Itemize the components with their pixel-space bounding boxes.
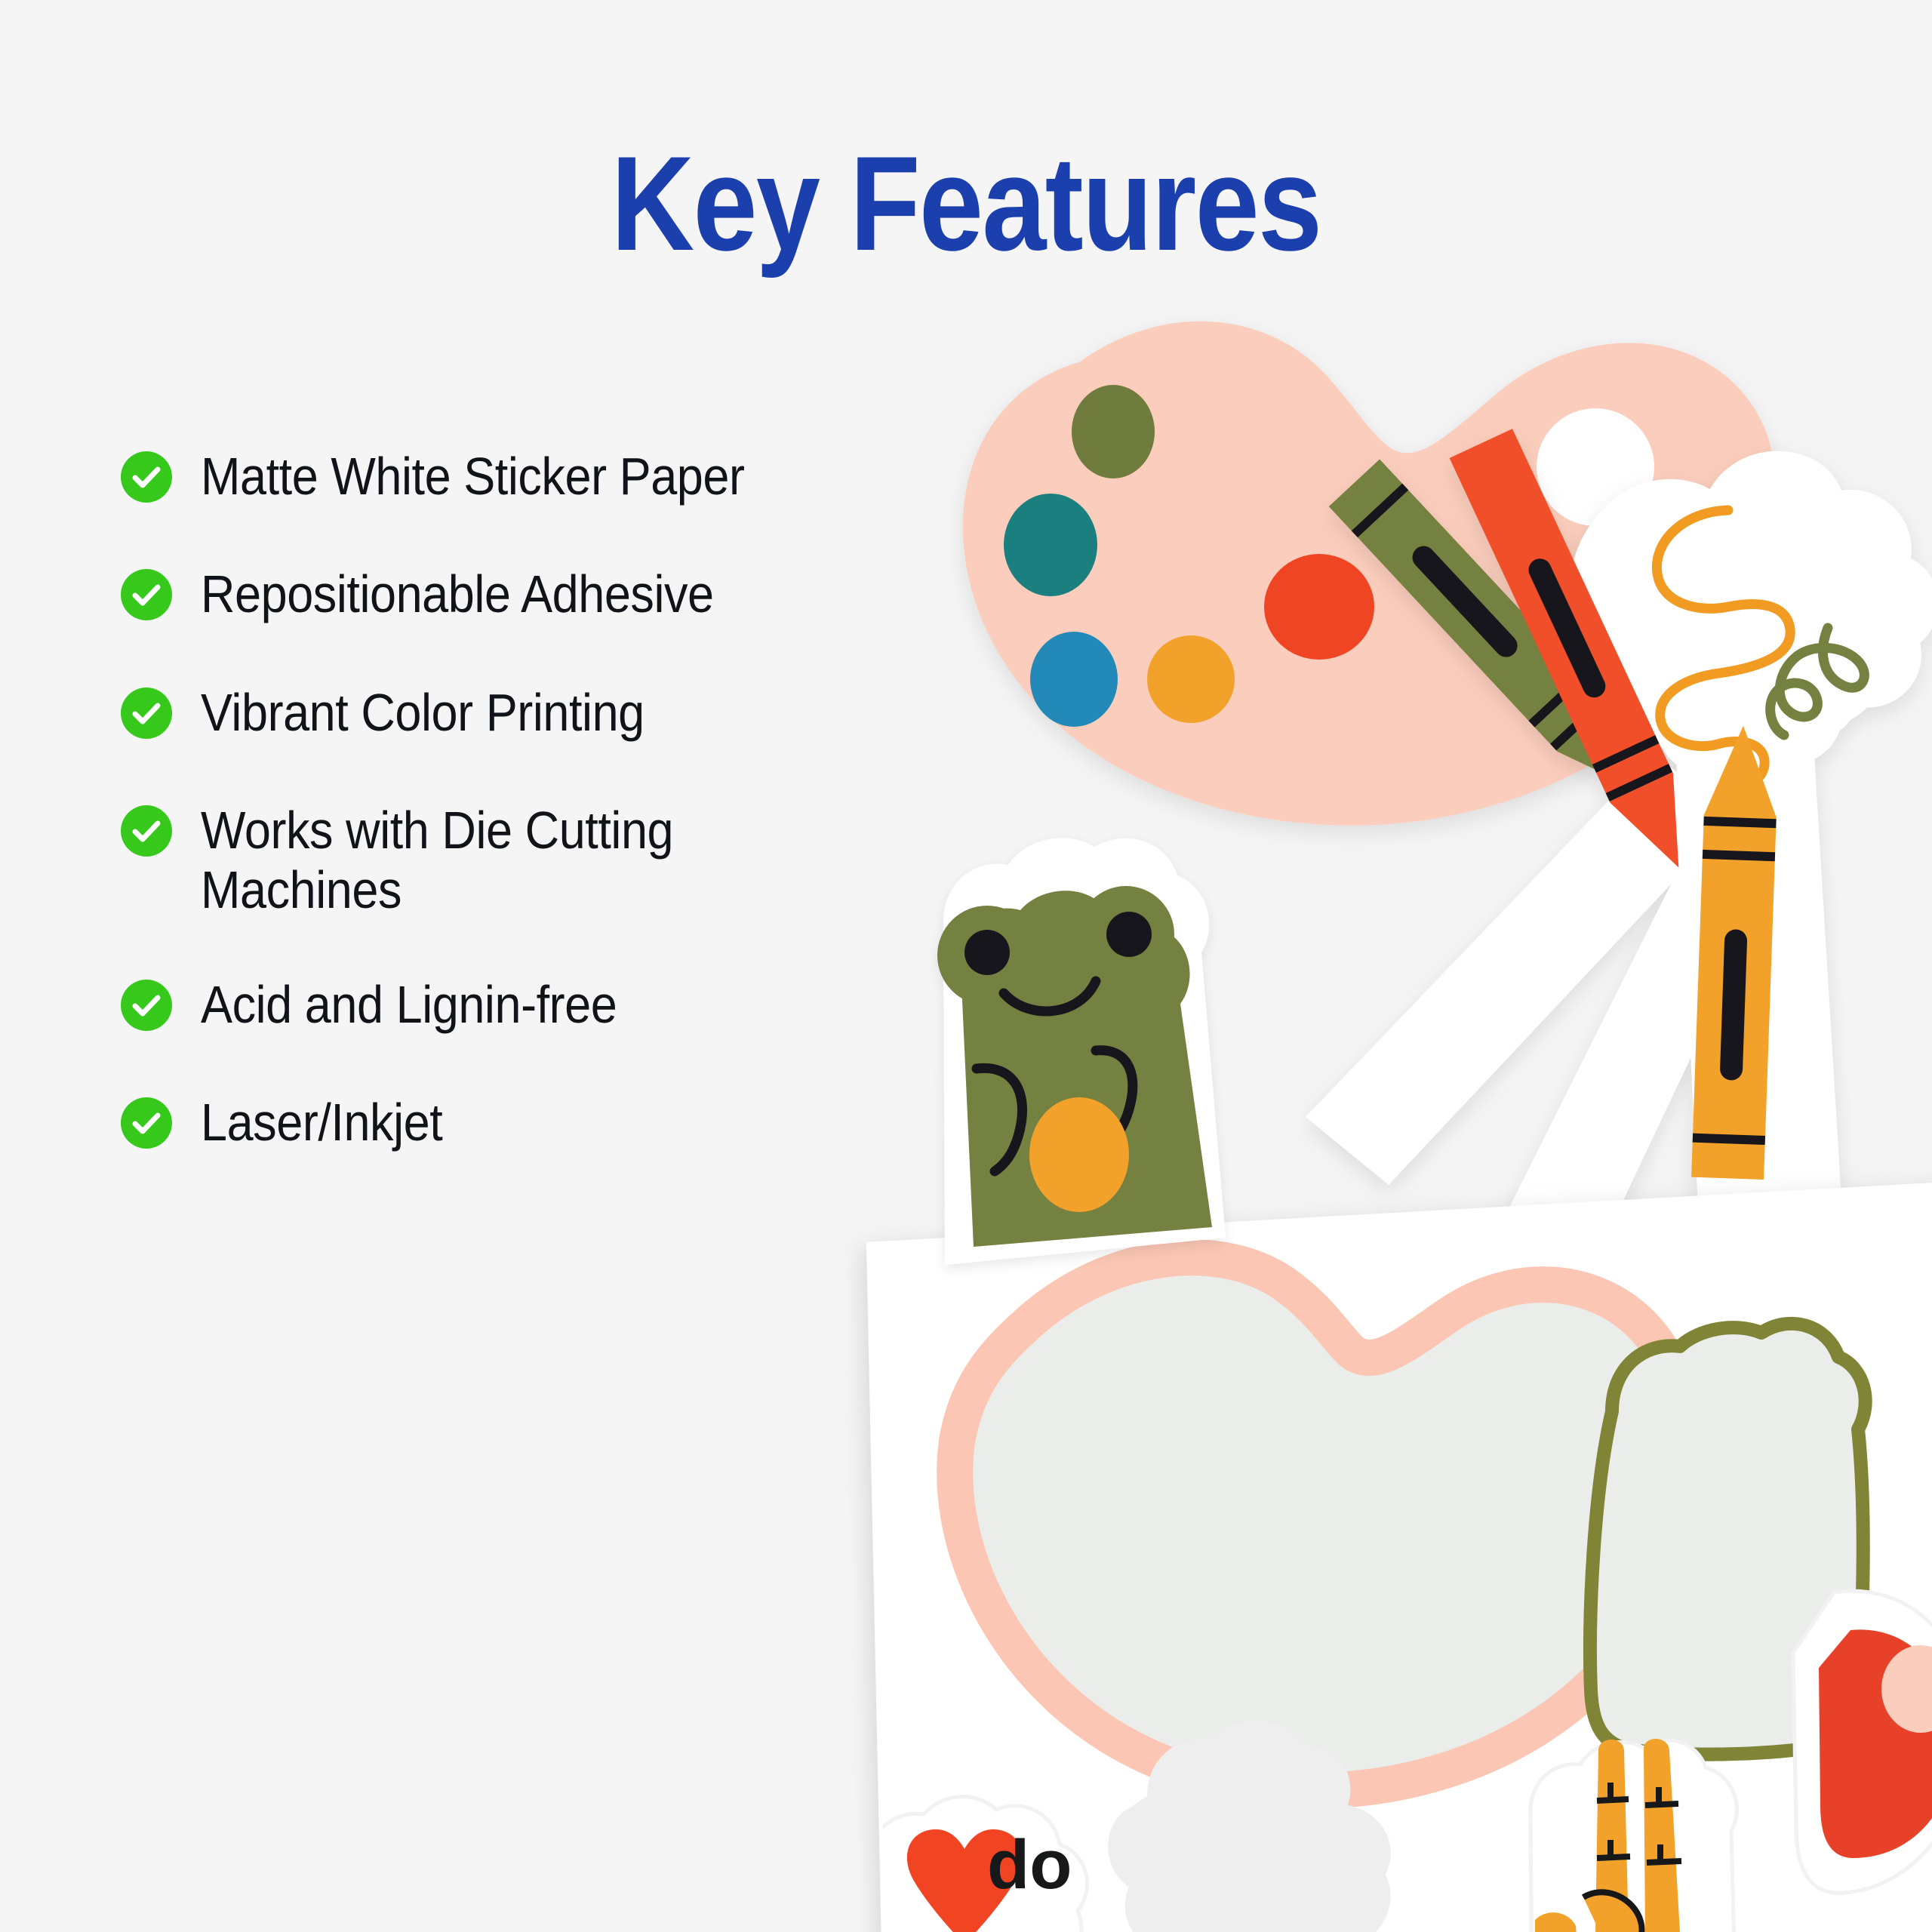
- feature-item: Vibrant Color Printing: [121, 683, 815, 742]
- frog-belly: [1029, 1097, 1129, 1212]
- palette-thumb-hole: [1537, 408, 1654, 526]
- red-circle-sticker: [1793, 1591, 1932, 1893]
- olive-squiggle: [1770, 628, 1865, 735]
- red-crayon: [1450, 429, 1710, 882]
- feature-label: Matte White Sticker Paper: [201, 447, 745, 506]
- feature-label: Vibrant Color Printing: [201, 683, 645, 742]
- frog-smile: [1004, 981, 1096, 1011]
- frog-right-eye: [1106, 912, 1152, 957]
- frog-cut-shape: [1590, 1324, 1866, 1755]
- feature-item: Matte White Sticker Paper: [121, 447, 815, 506]
- frog-sticker: [937, 838, 1226, 1265]
- frog-right-arm: [1096, 1051, 1133, 1146]
- check-circle-icon: [121, 688, 172, 739]
- orange-squiggle: [1657, 510, 1790, 787]
- palette-cut-shape: [955, 1257, 1689, 1790]
- red-paint-dot: [1264, 554, 1374, 660]
- orange-paint-dot: [1147, 635, 1235, 723]
- palette-base: [963, 321, 1777, 826]
- check-circle-icon: [121, 980, 172, 1031]
- feature-label: Acid and Lignin-free: [201, 975, 617, 1034]
- check-circle-icon: [121, 569, 172, 620]
- feature-list: Matte White Sticker Paper Repositionable…: [121, 447, 815, 1211]
- frog-left-eye: [964, 930, 1010, 975]
- check-circle-icon: [121, 805, 172, 857]
- blue-paint-dot: [1030, 632, 1118, 727]
- check-circle-icon: [121, 451, 172, 503]
- feature-label: Repositionable Adhesive: [201, 565, 714, 623]
- feature-item: Repositionable Adhesive: [121, 565, 815, 623]
- olive-crayon: [1329, 459, 1668, 815]
- do-it-sticker: do: [846, 1797, 1087, 1932]
- crayons-sticker-backing: [1306, 451, 1932, 1313]
- paint-palette: [963, 321, 1777, 826]
- orange-crayon: [1691, 724, 1780, 1180]
- olive-paint-dot: [1072, 385, 1155, 478]
- teal-paint-dot: [1004, 494, 1097, 596]
- poster-canvas: do: [0, 0, 1932, 1932]
- red-sticker-inner: [1881, 1645, 1932, 1733]
- crayons-sticker: [1306, 429, 1932, 1313]
- peace-hand-sticker: [1531, 1739, 1737, 1932]
- sticker-sheet: [866, 1181, 1932, 1932]
- frog-left-arm: [977, 1068, 1023, 1171]
- frog-body: [960, 891, 1212, 1247]
- check-circle-icon: [121, 1097, 172, 1149]
- page-title: Key Features: [135, 134, 1797, 275]
- sheet-paper: [866, 1181, 1932, 1932]
- do-it-text: do: [987, 1826, 1072, 1903]
- heart-icon: [907, 1829, 1022, 1932]
- cloud-cut-shape: [1108, 1721, 1391, 1932]
- feature-item: Acid and Lignin-free: [121, 975, 815, 1034]
- feature-label: Works with Die Cutting Machines: [201, 801, 673, 919]
- feature-label: Laser/Inkjet: [201, 1093, 442, 1152]
- feature-item: Works with Die Cutting Machines: [121, 801, 815, 919]
- feature-item: Laser/Inkjet: [121, 1093, 815, 1152]
